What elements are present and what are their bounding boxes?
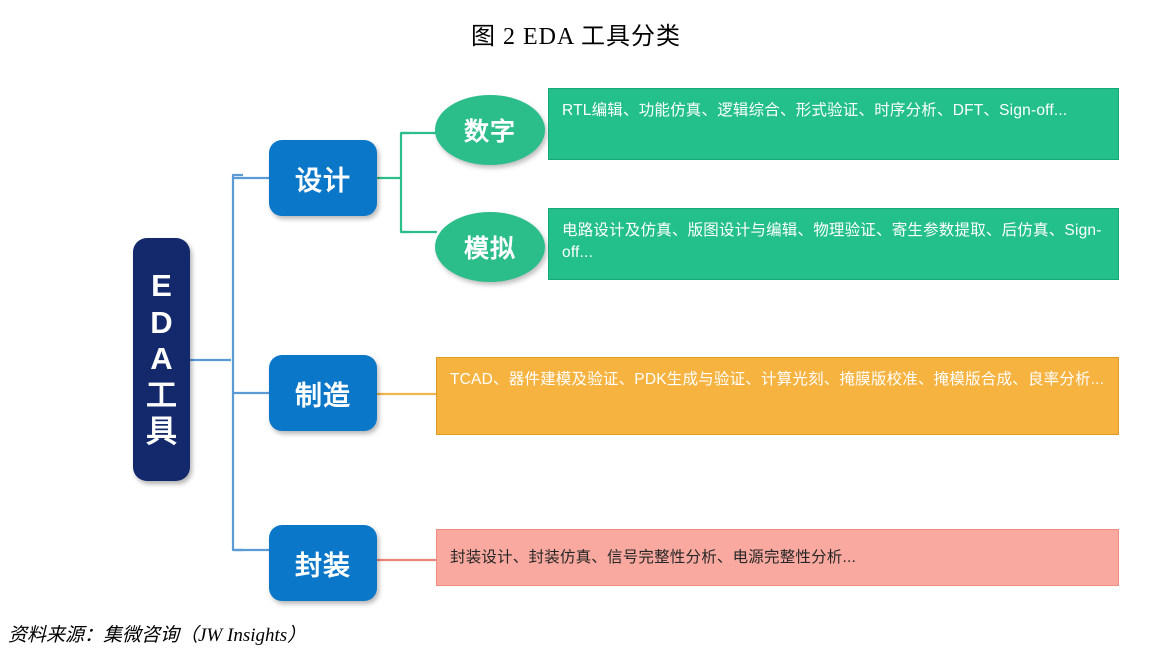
root-char-e: E [151,268,172,305]
node-package[interactable]: 封装 [269,525,377,601]
root-node-eda-tools[interactable]: E D A 工 具 [133,238,190,481]
detail-box-analog: 电路设计及仿真、版图设计与编辑、物理验证、寄生参数提取、后仿真、Sign-off… [548,208,1119,280]
root-char-d: D [150,305,172,342]
connector-root-bracket [233,175,243,550]
node-analog[interactable]: 模拟 [435,212,545,282]
node-manufacture[interactable]: 制造 [269,355,377,431]
root-char-ju: 具 [146,414,177,451]
detail-box-digital: RTL编辑、功能仿真、逻辑综合、形式验证、时序分析、DFT、Sign-off..… [548,88,1119,160]
node-design[interactable]: 设计 [269,140,377,216]
root-char-a: A [150,341,172,378]
detail-box-manufacture: TCAD、器件建模及验证、PDK生成与验证、计算光刻、掩膜版校准、掩模版合成、良… [436,357,1119,435]
detail-box-package: 封装设计、封装仿真、信号完整性分析、电源完整性分析... [436,529,1119,586]
source-note: 资料来源：集微咨询（JW Insights） [8,620,306,647]
root-char-gong: 工 [146,378,177,415]
node-digital[interactable]: 数字 [435,95,545,165]
connector-design-bracket [401,133,410,232]
diagram-canvas: E D A 工 具 设计 制造 封装 数字 模拟 RTL编辑、功能仿真、逻辑综合… [0,0,1152,666]
